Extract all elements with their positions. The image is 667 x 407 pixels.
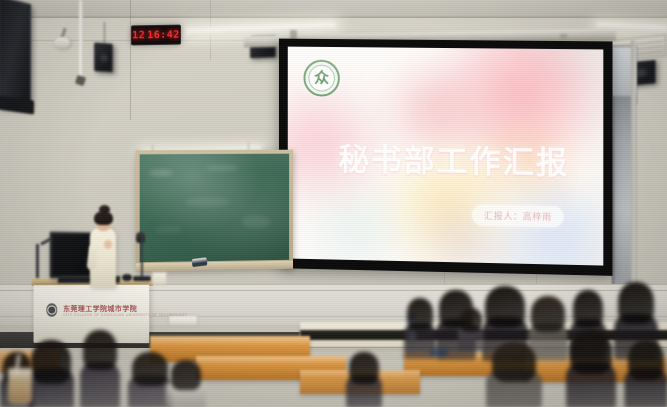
podium-mouse[interactable] (122, 274, 132, 281)
microphone-stand (141, 238, 143, 280)
university-seal-logo: 众 (303, 60, 339, 97)
student-front-e (624, 340, 667, 407)
monitor-screen[interactable] (52, 235, 89, 276)
student-row-a (404, 298, 436, 358)
microphone-base (133, 276, 151, 281)
window-frame-post (631, 40, 636, 290)
wall-mounted-display (0, 0, 31, 108)
clock-time-segment: 16:42 (147, 29, 180, 41)
slide-title: 秘书部工作汇报 (300, 134, 604, 184)
paper-cup (152, 272, 167, 285)
chalk-smudge (242, 215, 272, 228)
presenter-credit-pill: 汇报人：高梓雨 (472, 205, 564, 228)
ceiling-conduit-pipe (79, 0, 83, 80)
student-left-2 (80, 330, 120, 407)
student-front-d (566, 330, 616, 407)
student-hair (531, 296, 565, 332)
student-back-tiny (458, 308, 484, 350)
classroom-presentation-photo: 12 16:42 (0, 0, 667, 407)
chalk-smudge (149, 169, 173, 177)
chalk-smudge (185, 197, 230, 208)
student-front-c (486, 342, 542, 407)
seal-glyph: 众 (314, 71, 329, 86)
chalk-smudge (155, 225, 182, 234)
student-mid-far (346, 352, 382, 407)
presenter-hair-bun (99, 205, 110, 214)
student-hair (570, 330, 612, 374)
speaker-wire (104, 22, 105, 44)
student-hair (573, 290, 603, 328)
security-camera-icon (54, 37, 70, 48)
student-hair (492, 342, 536, 382)
chalk-smudge (206, 165, 239, 172)
desk-surface (150, 336, 310, 344)
student-hair (83, 330, 117, 370)
student-hair (407, 298, 433, 330)
student-hair (628, 340, 664, 380)
upper-wall-band (0, 0, 667, 17)
wall-seam (130, 0, 131, 120)
student-hair (171, 360, 201, 390)
student-front-left (28, 340, 74, 407)
university-logo-mark (46, 303, 57, 317)
green-chalkboard (136, 150, 293, 272)
student-hair (618, 282, 654, 324)
student-hair (132, 352, 168, 386)
student-hair (349, 352, 379, 384)
led-wall-clock: 12 16:42 (131, 25, 181, 46)
student-hair (485, 286, 525, 328)
speaker-cone (98, 51, 108, 63)
student-hair (460, 308, 482, 332)
slide-canvas: 众 秘书部工作汇报 汇报人：高梓雨 (288, 47, 604, 266)
clock-date-segment: 12 (132, 30, 145, 41)
chalkboard-surface (140, 154, 289, 263)
podium-monitor (50, 232, 92, 279)
podium-university-name-en: CITY COLLEGE OF DONGGUAN UNIVERSITY OF T… (63, 313, 141, 317)
monitor-arm-post (36, 244, 39, 278)
milk-tea-cup (8, 368, 32, 404)
wall-speaker-left (94, 42, 113, 72)
wall-seam (0, 17, 667, 18)
student-hair (31, 340, 71, 384)
desk-surface (196, 356, 346, 363)
student-mid-white (166, 360, 206, 407)
presenter-hand (104, 240, 112, 249)
projection-screen: 众 秘书部工作汇报 汇报人：高梓雨 (279, 39, 613, 276)
